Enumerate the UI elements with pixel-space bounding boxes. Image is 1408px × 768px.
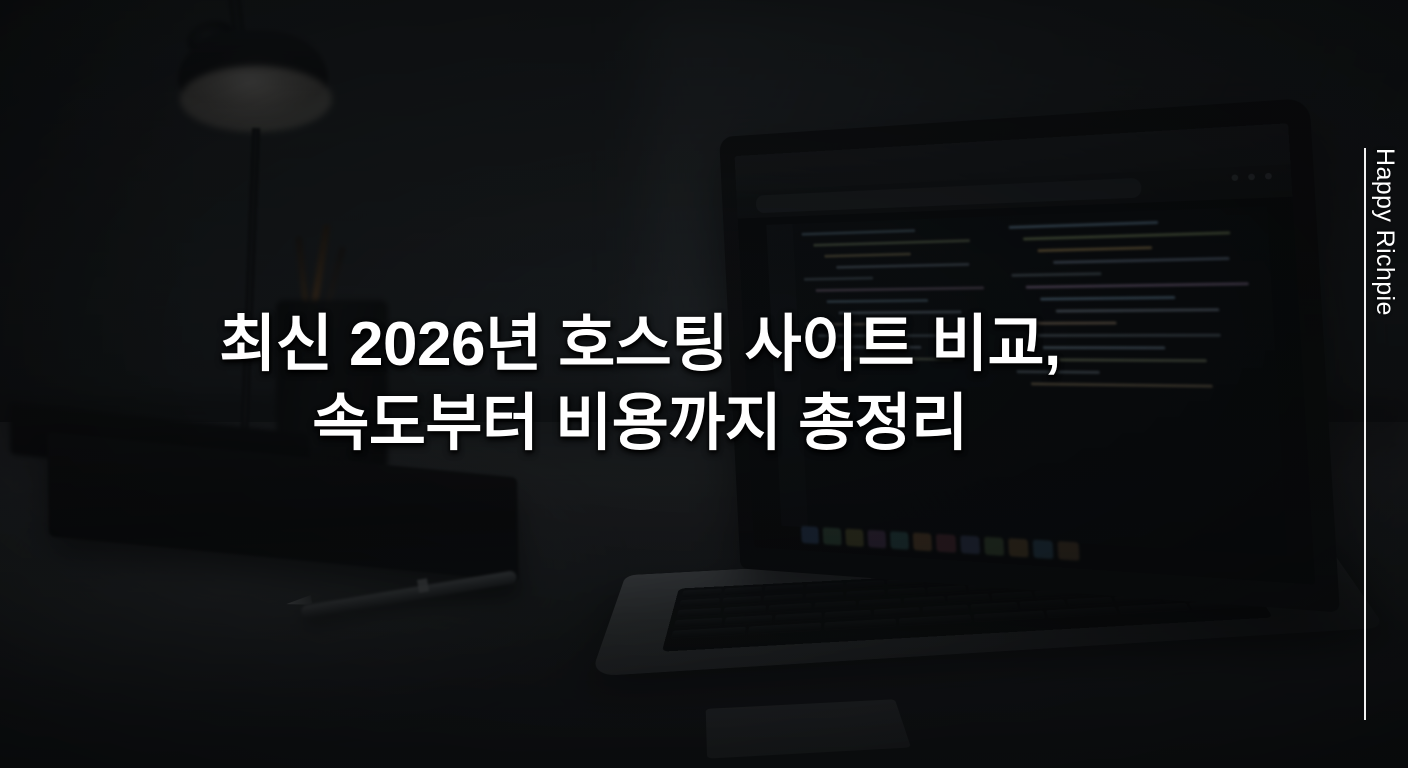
brand-watermark: Happy Richpie: [1340, 148, 1394, 720]
title-line-2: 속도부터 비용까지 총정리: [312, 386, 967, 461]
title-block: 최신 2026년 호스팅 사이트 비교, 속도부터 비용까지 총정리: [0, 0, 1280, 768]
watermark-text: Happy Richpie: [1364, 148, 1399, 316]
title-line-1: 최신 2026년 호스팅 사이트 비교,: [219, 307, 1061, 382]
thumbnail-card: 최신 2026년 호스팅 사이트 비교, 속도부터 비용까지 총정리 Happy…: [0, 0, 1408, 768]
